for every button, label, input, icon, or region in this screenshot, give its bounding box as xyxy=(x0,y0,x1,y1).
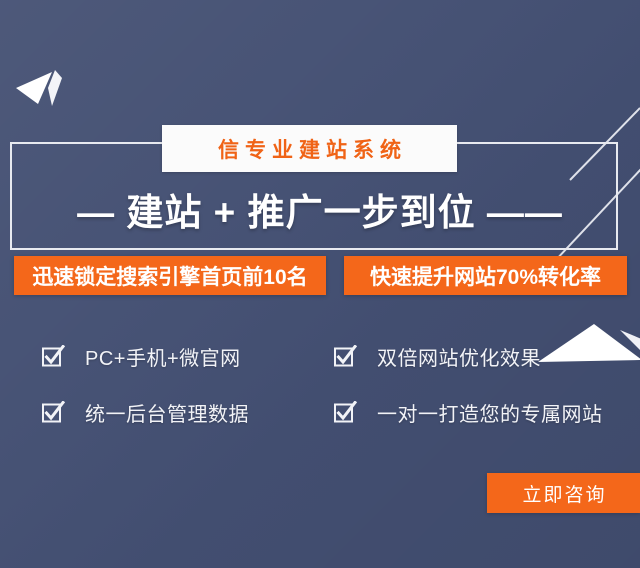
feature-item: 一对一打造您的专属网站 xyxy=(320,384,640,440)
checkbox-checked-icon xyxy=(334,401,357,424)
promo-strip-right-text: 快速提升网站70%转化率 xyxy=(370,261,601,291)
promo-strip-left: 迅速锁定搜索引擎首页前10名 xyxy=(14,256,326,295)
feature-label: PC+手机+微官网 xyxy=(85,342,241,371)
paper-plane-icon xyxy=(12,58,82,114)
feature-list: PC+手机+微官网 双倍网站优化效果 xyxy=(0,328,640,440)
feature-row: 统一后台管理数据 一对一打造您的专属网站 xyxy=(0,384,640,440)
brand-label-box: 信专业建站系统 xyxy=(162,125,457,172)
feature-item: PC+手机+微官网 xyxy=(0,328,320,384)
consult-now-button[interactable]: 立即咨询 xyxy=(487,473,640,513)
checkbox-checked-icon xyxy=(42,345,65,368)
promo-banner: 信专业建站系统 — 建站 + 推广一步到位 —— 迅速锁定搜索引擎首页前10名 … xyxy=(0,0,640,568)
feature-label: 统一后台管理数据 xyxy=(85,398,249,427)
checkbox-checked-icon xyxy=(334,345,357,368)
feature-item: 统一后台管理数据 xyxy=(0,384,320,440)
promo-strip-right: 快速提升网站70%转化率 xyxy=(344,256,627,295)
feature-label: 一对一打造您的专属网站 xyxy=(377,398,603,427)
consult-now-button-label: 立即咨询 xyxy=(520,480,606,507)
checkbox-checked-icon xyxy=(42,401,65,424)
feature-label: 双倍网站优化效果 xyxy=(377,342,541,371)
brand-label-text: 信专业建站系统 xyxy=(212,134,407,164)
feature-item: 双倍网站优化效果 xyxy=(320,328,640,384)
promo-strip-left-text: 迅速锁定搜索引擎首页前10名 xyxy=(32,261,307,291)
feature-row: PC+手机+微官网 双倍网站优化效果 xyxy=(0,328,640,384)
headline-text: — 建站 + 推广一步到位 —— xyxy=(0,182,640,236)
